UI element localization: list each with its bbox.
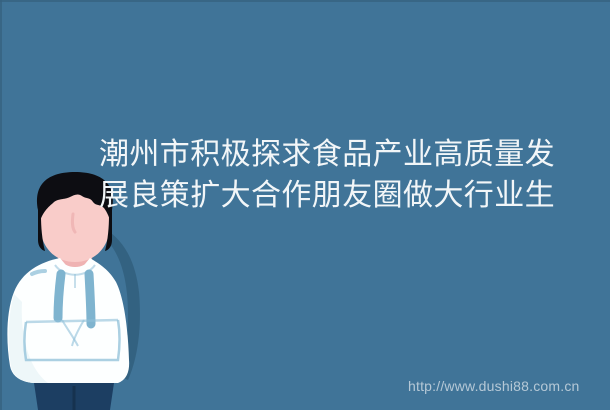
headline-text: 潮州市积极探求食品产业高质量发 展良策扩大合作朋友圈做大行业生 — [99, 134, 599, 216]
headline-line-1: 潮州市积极探求食品产业高质量发 — [99, 134, 599, 175]
watermark-url: http://www.dushi88.com.cn — [408, 378, 580, 394]
right-drawstring — [89, 274, 91, 324]
left-drawstring — [58, 274, 61, 318]
image-canvas: 潮州市积极探求食品产业高质量发 展良策扩大合作朋友圈做大行业生 http://w… — [0, 0, 610, 410]
canvas-top-edge — [0, 0, 610, 2]
headline-line-2: 展良策扩大合作朋友圈做大行业生 — [99, 175, 599, 216]
